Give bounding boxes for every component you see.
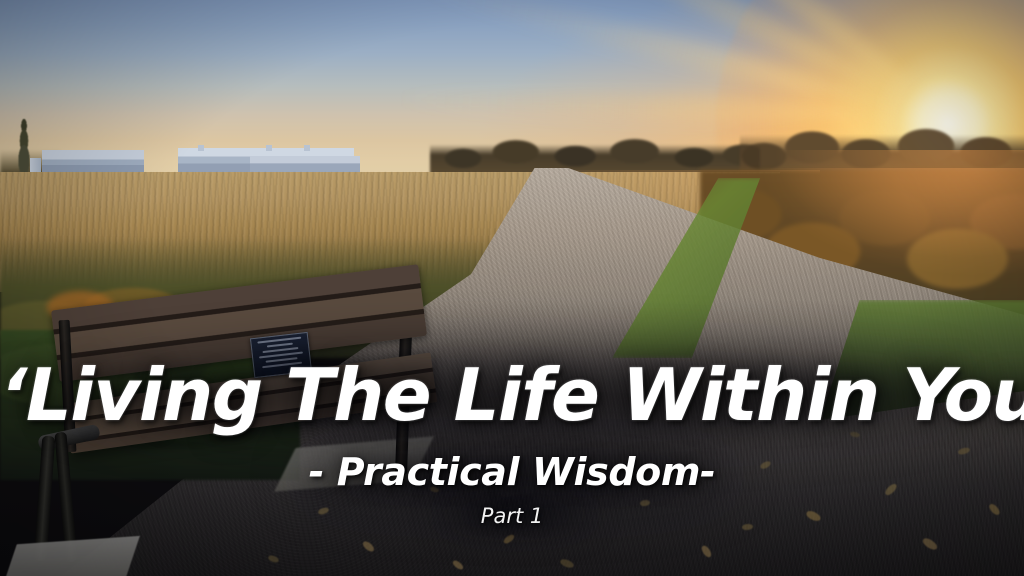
plaque-line: [267, 343, 293, 348]
bench-concrete-pad: [0, 536, 140, 576]
plaque-line: [257, 337, 301, 344]
barn-vent: [304, 145, 310, 151]
barn-vent: [266, 145, 272, 151]
barn-vent: [198, 145, 204, 151]
title-slide: ‘Living The Life Within You’ - Practical…: [0, 0, 1024, 576]
slide-part-label: Part 1: [0, 503, 1024, 529]
memorial-park-bench: [0, 300, 470, 576]
slide-title: ‘Living The Life Within You’: [0, 356, 1024, 434]
slide-subtitle: - Practical Wisdom-: [0, 450, 1024, 494]
